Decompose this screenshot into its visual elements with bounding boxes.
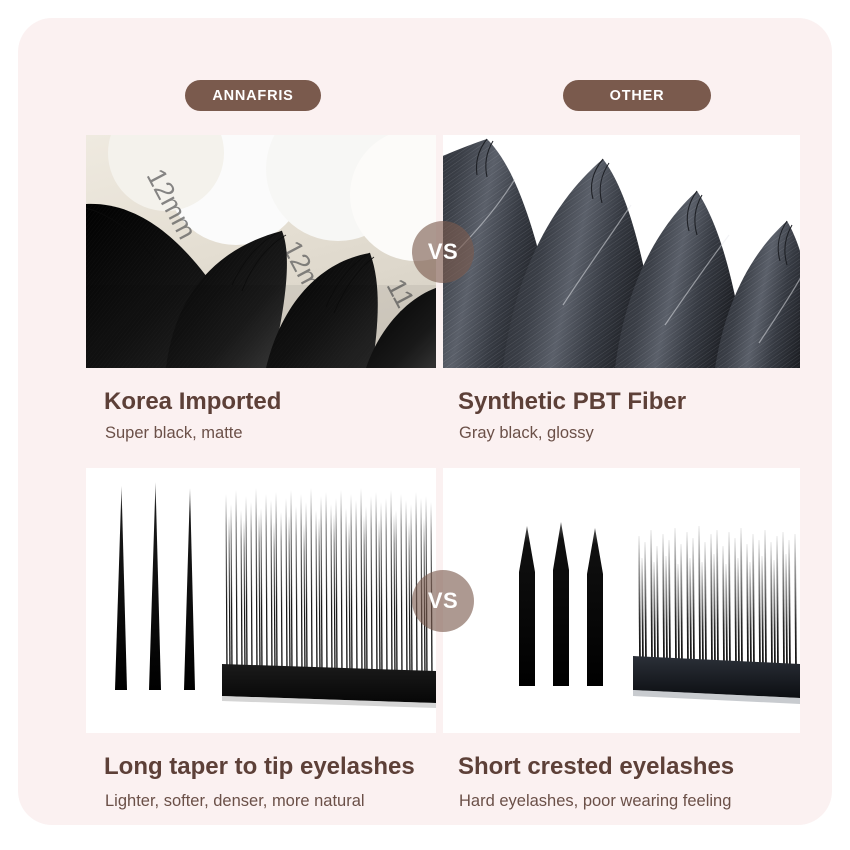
- caption-title-korea: Korea Imported: [104, 388, 281, 416]
- vs-badge-top: VS: [412, 221, 474, 283]
- other-badge: OTHER: [563, 80, 711, 111]
- lash-glossy-illustration: [443, 135, 800, 368]
- vs-badge-bottom: VS: [412, 570, 474, 632]
- photo-synthetic-pbt-fiber: [443, 135, 800, 368]
- caption-title-short-crested: Short crested eyelashes: [458, 753, 734, 781]
- caption-sub-long-taper: Lighter, softer, denser, more natural: [105, 792, 365, 811]
- brand-badge: ANNAFRIS: [185, 80, 321, 111]
- caption-title-long-taper: Long taper to tip eyelashes: [104, 753, 415, 781]
- comparison-card: ANNAFRIS OTHER: [18, 18, 832, 825]
- caption-sub-korea: Super black, matte: [105, 424, 243, 443]
- caption-sub-pbt: Gray black, glossy: [459, 424, 594, 443]
- infographic-page: ANNAFRIS OTHER: [0, 0, 850, 850]
- caption-title-pbt: Synthetic PBT Fiber: [458, 388, 686, 416]
- photo-korea-imported: 12mm 12mm 11mm: [86, 135, 436, 368]
- short-crested-lash-illustration: [443, 468, 800, 733]
- caption-sub-short-crested: Hard eyelashes, poor wearing feeling: [459, 792, 731, 811]
- photo-short-crested-eyelashes: [443, 468, 800, 733]
- lash-tray-matte-illustration: 12mm 12mm 11mm: [86, 135, 436, 368]
- photo-long-taper-eyelashes: [86, 468, 436, 733]
- long-taper-lash-illustration: [86, 468, 436, 733]
